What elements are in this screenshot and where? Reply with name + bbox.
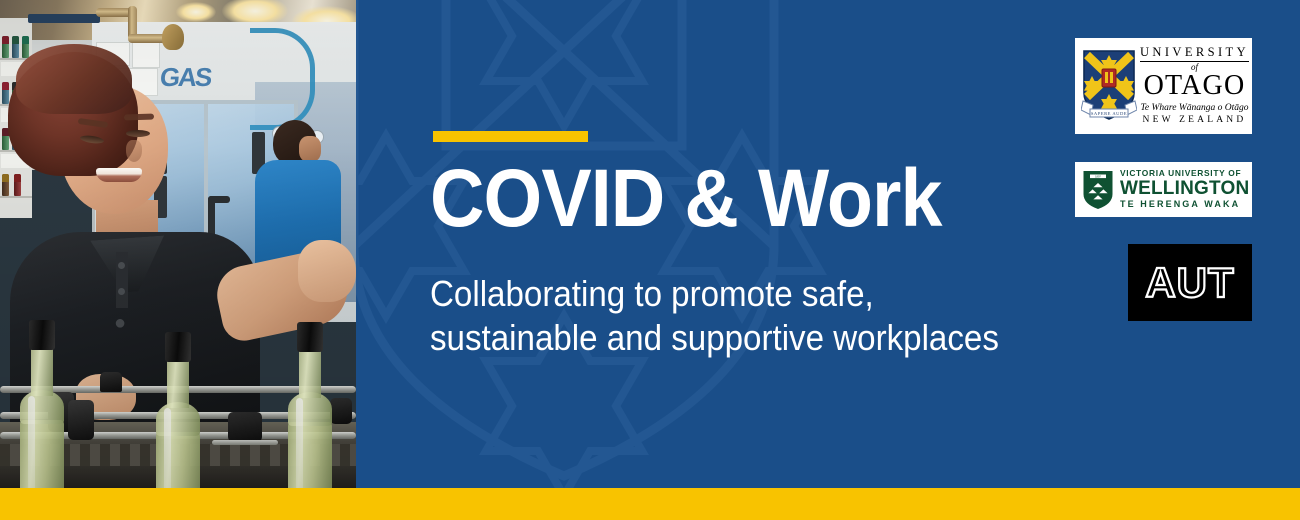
- wellington-main-line: WELLINGTON: [1120, 179, 1249, 198]
- polo-placket: [116, 252, 128, 308]
- otago-crest-watermark: [296, 0, 832, 520]
- woman-eye: [126, 130, 150, 137]
- otago-university-word: UNIVERSITY: [1140, 46, 1249, 62]
- machine-label: [132, 40, 160, 68]
- bottom-accent-bar: [0, 488, 1300, 520]
- accent-rule: [433, 131, 588, 142]
- polo-button: [118, 288, 125, 295]
- clamp-head: [100, 372, 122, 392]
- wellington-wordmark: VICTORIA UNIVERSITY OF WELLINGTON TE HER…: [1120, 169, 1249, 210]
- woman-smile: [96, 168, 142, 182]
- otago-maori-name: Te Whare Wānanga o Otāgo: [1140, 103, 1248, 113]
- door-handle: [208, 196, 230, 203]
- blue-pipe-bracket: [28, 14, 100, 23]
- logo-aut[interactable]: AUT: [1128, 244, 1252, 321]
- covid-and-work-banner: GAS: [0, 0, 1300, 520]
- woman-right-hand: [298, 240, 356, 302]
- otago-wordmark: UNIVERSITY of OTAGO Te Whare Wānanga o O…: [1140, 46, 1249, 126]
- aut-wordmark: AUT: [1145, 259, 1234, 307]
- woman-nose: [126, 140, 142, 162]
- woman-eyebrow: [124, 113, 154, 120]
- otago-name-word: OTAGO: [1144, 72, 1246, 100]
- workplace-photo: GAS: [0, 0, 356, 488]
- wellington-shield-icon: 1897: [1082, 170, 1114, 210]
- page-subtitle: Collaborating to promote safe, sustainab…: [430, 272, 999, 360]
- bottling-conveyor: [0, 328, 356, 488]
- worker-face: [299, 136, 321, 162]
- photo-scene: GAS: [0, 0, 356, 488]
- actuator-rod: [212, 440, 278, 445]
- woman-hair-highlight: [16, 44, 132, 114]
- subtitle-line-1: Collaborating to promote safe,: [430, 272, 999, 316]
- subtitle-line-2: sustainable and supportive workplaces: [430, 316, 999, 360]
- polo-button: [118, 262, 125, 269]
- logo-victoria-university-wellington[interactable]: 1897 VICTORIA UNIVERSITY OF WELLINGTON T…: [1075, 162, 1252, 217]
- drive-block: [228, 412, 262, 442]
- machine-brand-mark: GAS: [158, 62, 212, 93]
- bottle-clamp: [68, 400, 94, 440]
- blue-hose: [250, 28, 315, 130]
- otago-country: NEW ZEALAND: [1143, 115, 1247, 126]
- otago-motto-text: SAPERE AUDE: [1091, 111, 1127, 116]
- wellington-shield-date: 1897: [1095, 174, 1101, 178]
- otago-crest-icon: SAPERE AUDE: [1081, 49, 1137, 123]
- drive-block: [330, 398, 352, 424]
- brass-valve: [162, 24, 184, 50]
- page-title: COVID & Work: [430, 160, 942, 238]
- ceiling-lamp: [176, 2, 216, 22]
- wellington-maori-line: TE HERENGA WAKA: [1120, 199, 1249, 210]
- logo-university-of-otago[interactable]: SAPERE AUDE UNIVERSITY of OTAGO Te Whare…: [1075, 38, 1252, 134]
